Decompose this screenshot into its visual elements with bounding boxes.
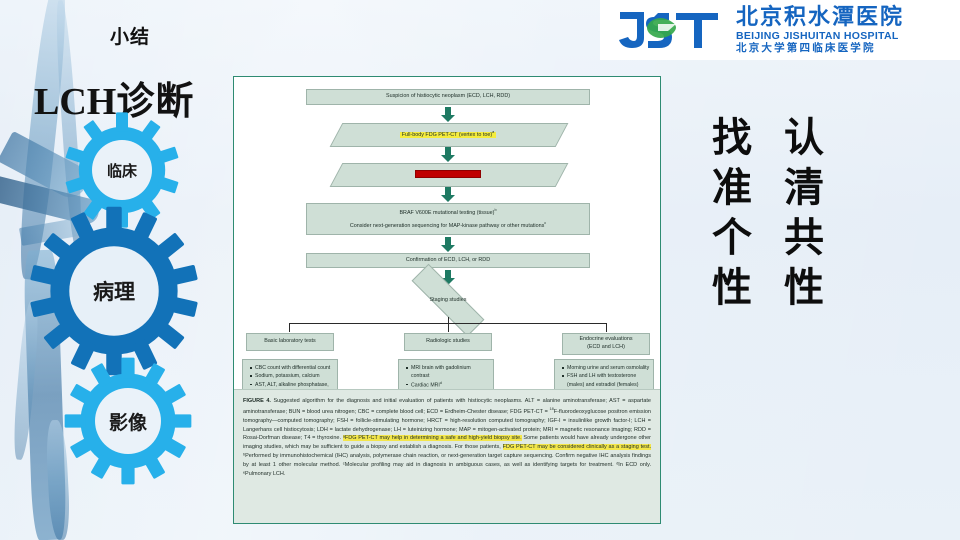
chinese-column-renqing: 认 清 共 性 xyxy=(784,118,824,308)
flow-node-petct-sup: a xyxy=(492,130,494,134)
flow-node-petct: Full-body FDG PET-CT (vertex to toe)a xyxy=(336,123,560,145)
flow-node-ngs-text: Consider next-generation sequencing for … xyxy=(350,222,544,228)
flow-arrow-1 xyxy=(441,107,455,122)
flow-node-braf: BRAF V600E mutational testing (tissue)b … xyxy=(306,203,590,235)
list-item: FSH and LH with testosterone (males) and… xyxy=(567,372,650,389)
gear-pathology: 病理 xyxy=(28,205,200,377)
flow-node-endocrine-line1: Endocrine evaluations xyxy=(579,336,632,344)
flow-arrow-4 xyxy=(441,237,455,252)
flow-node-biopsy: Biopsy of involved tissue xyxy=(336,163,560,185)
section-label: 小结 xyxy=(110,22,150,49)
flow-node-staging-text: Staging studies xyxy=(430,297,467,303)
flow-node-biopsy-text: Biopsy of involved tissue xyxy=(415,170,480,178)
flow-node-staging: Staging studies xyxy=(388,283,508,317)
connector-branch-mid xyxy=(448,323,449,332)
chinese-char: 性 xyxy=(712,268,752,308)
list-item: CBC count with differential count xyxy=(255,364,334,372)
figure-caption: FIGURE 4. Suggested algorithm for the di… xyxy=(234,389,660,523)
hospital-logo-bar: 北京积水潭医院 BEIJING JISHUITAN HOSPITAL 北京大学第… xyxy=(600,0,960,60)
figure-caption-body-4: ᵇPerformed by immunohistochemical (IHC) … xyxy=(243,453,651,477)
connector-branch-left xyxy=(289,323,290,332)
flow-node-suspicion: Suspicion of histiocytic neoplasm (ECD, … xyxy=(306,89,590,105)
flow-node-petct-text: Full-body FDG PET-CT (vertex to toe) xyxy=(402,132,492,138)
flow-node-basic-labs: Basic laboratory tests xyxy=(246,333,334,351)
chinese-char: 认 xyxy=(784,118,824,158)
list-item: MRI brain with gadolinium contrast xyxy=(411,364,490,381)
logo-name-en: BEIJING JISHUITAN HOSPITAL xyxy=(736,31,904,42)
figure-caption-highlight-2: FDG PET-CT may be considered clinically … xyxy=(503,444,651,450)
flow-node-braf-sup: b xyxy=(494,208,496,212)
figure-panel: Suspicion of histiocytic neoplasm (ECD, … xyxy=(233,76,661,524)
flow-node-confirmation: Confirmation of ECD, LCH, or RDD xyxy=(306,253,590,268)
slide-canvas: 北京积水潭医院 BEIJING JISHUITAN HOSPITAL 北京大学第… xyxy=(0,0,960,540)
gear-imaging-label: 影像 xyxy=(62,355,194,487)
gear-imaging: 影像 xyxy=(62,355,194,487)
chinese-char: 准 xyxy=(712,168,752,208)
figure-caption-label: FIGURE 4. xyxy=(243,398,271,404)
chinese-char: 性 xyxy=(784,268,824,308)
chinese-char: 清 xyxy=(784,168,824,208)
chinese-column-zhaozhun: 找 准 个 性 xyxy=(712,118,752,308)
flowchart: Suspicion of histiocytic neoplasm (ECD, … xyxy=(234,77,660,387)
right-chinese-columns: 认 清 共 性 找 准 个 性 xyxy=(712,118,824,308)
flow-node-braf-text: BRAF V600E mutational testing (tissue) xyxy=(399,209,494,215)
chinese-char: 个 xyxy=(712,218,752,258)
logo-name-cn: 北京积水潭医院 xyxy=(736,7,904,29)
logo-affiliation-cn: 北京大学第四临床医学院 xyxy=(736,43,904,54)
flow-arrow-2 xyxy=(441,147,455,162)
jst-logo-icon xyxy=(614,8,726,52)
list-item: Morning urine and serum osmolality xyxy=(567,364,650,372)
figure-caption-highlight-1: ᵃFDG PET-CT may help in determining a sa… xyxy=(343,435,522,441)
flow-node-endocrine: Endocrine evaluations (ECD and LCH) xyxy=(562,333,650,355)
flow-arrow-3 xyxy=(441,187,455,202)
connector-branch-right xyxy=(606,323,607,332)
chinese-char: 共 xyxy=(784,218,824,258)
flow-node-ngs-sup: c xyxy=(544,221,546,225)
flow-node-endocrine-line2: (ECD and LCH) xyxy=(587,344,625,352)
list-item: Sodium, potassium, calcium xyxy=(255,372,334,380)
gear-pathology-label: 病理 xyxy=(28,205,200,377)
chinese-char: 找 xyxy=(712,118,752,158)
flow-node-radiologic: Radiologic studies xyxy=(404,333,492,351)
